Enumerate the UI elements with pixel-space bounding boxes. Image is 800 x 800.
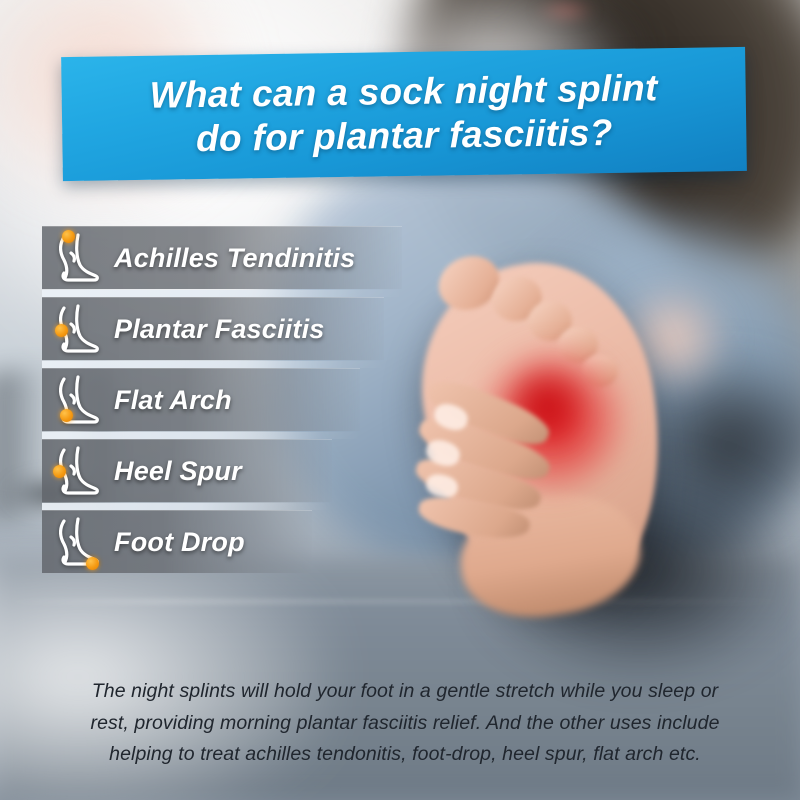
list-item-label: Achilles Tendinitis [114, 243, 355, 274]
foot-outline-icon [48, 229, 104, 287]
list-item-foot-drop[interactable]: Foot Drop [42, 510, 312, 573]
foot-outline-icon [48, 300, 104, 358]
pain-dot [53, 465, 66, 478]
caption-line-1: The night splints will hold your foot in… [55, 676, 755, 708]
foot-photo-subject [400, 255, 760, 610]
pain-dot [55, 324, 68, 337]
description-caption: The night splints will hold your foot in… [55, 676, 755, 771]
list-item-label: Plantar Fasciitis [114, 314, 325, 345]
list-item-flat-arch[interactable]: Flat Arch [42, 368, 360, 431]
list-item-achilles-tendinitis[interactable]: Achilles Tendinitis [42, 226, 402, 289]
list-item-label: Flat Arch [114, 385, 232, 416]
title-banner: What can a sock night splint do for plan… [61, 47, 747, 181]
caption-line-3: helping to treat achilles tendonitis, fo… [55, 739, 755, 771]
foot-outline-icon [48, 513, 104, 571]
pain-dot [86, 557, 99, 570]
pain-dot [60, 409, 73, 422]
list-item-plantar-fasciitis[interactable]: Plantar Fasciitis [42, 297, 384, 360]
list-item-label: Foot Drop [114, 527, 245, 558]
list-item-heel-spur[interactable]: Heel Spur [42, 439, 332, 502]
product-infographic: What can a sock night splint do for plan… [0, 0, 800, 800]
list-item-label: Heel Spur [114, 456, 242, 487]
condition-list: Achilles Tendinitis Plantar Fasciitis [42, 226, 402, 581]
foot-outline-icon [48, 371, 104, 429]
page-title: What can a sock night splint do for plan… [135, 66, 672, 161]
caption-line-2: rest, providing morning plantar fasciiti… [55, 708, 755, 740]
title-line-2: do for plantar fasciitis? [196, 112, 613, 159]
title-line-1: What can a sock night splint [149, 68, 658, 117]
foot-outline-icon [48, 442, 104, 500]
pain-dot [62, 230, 75, 243]
